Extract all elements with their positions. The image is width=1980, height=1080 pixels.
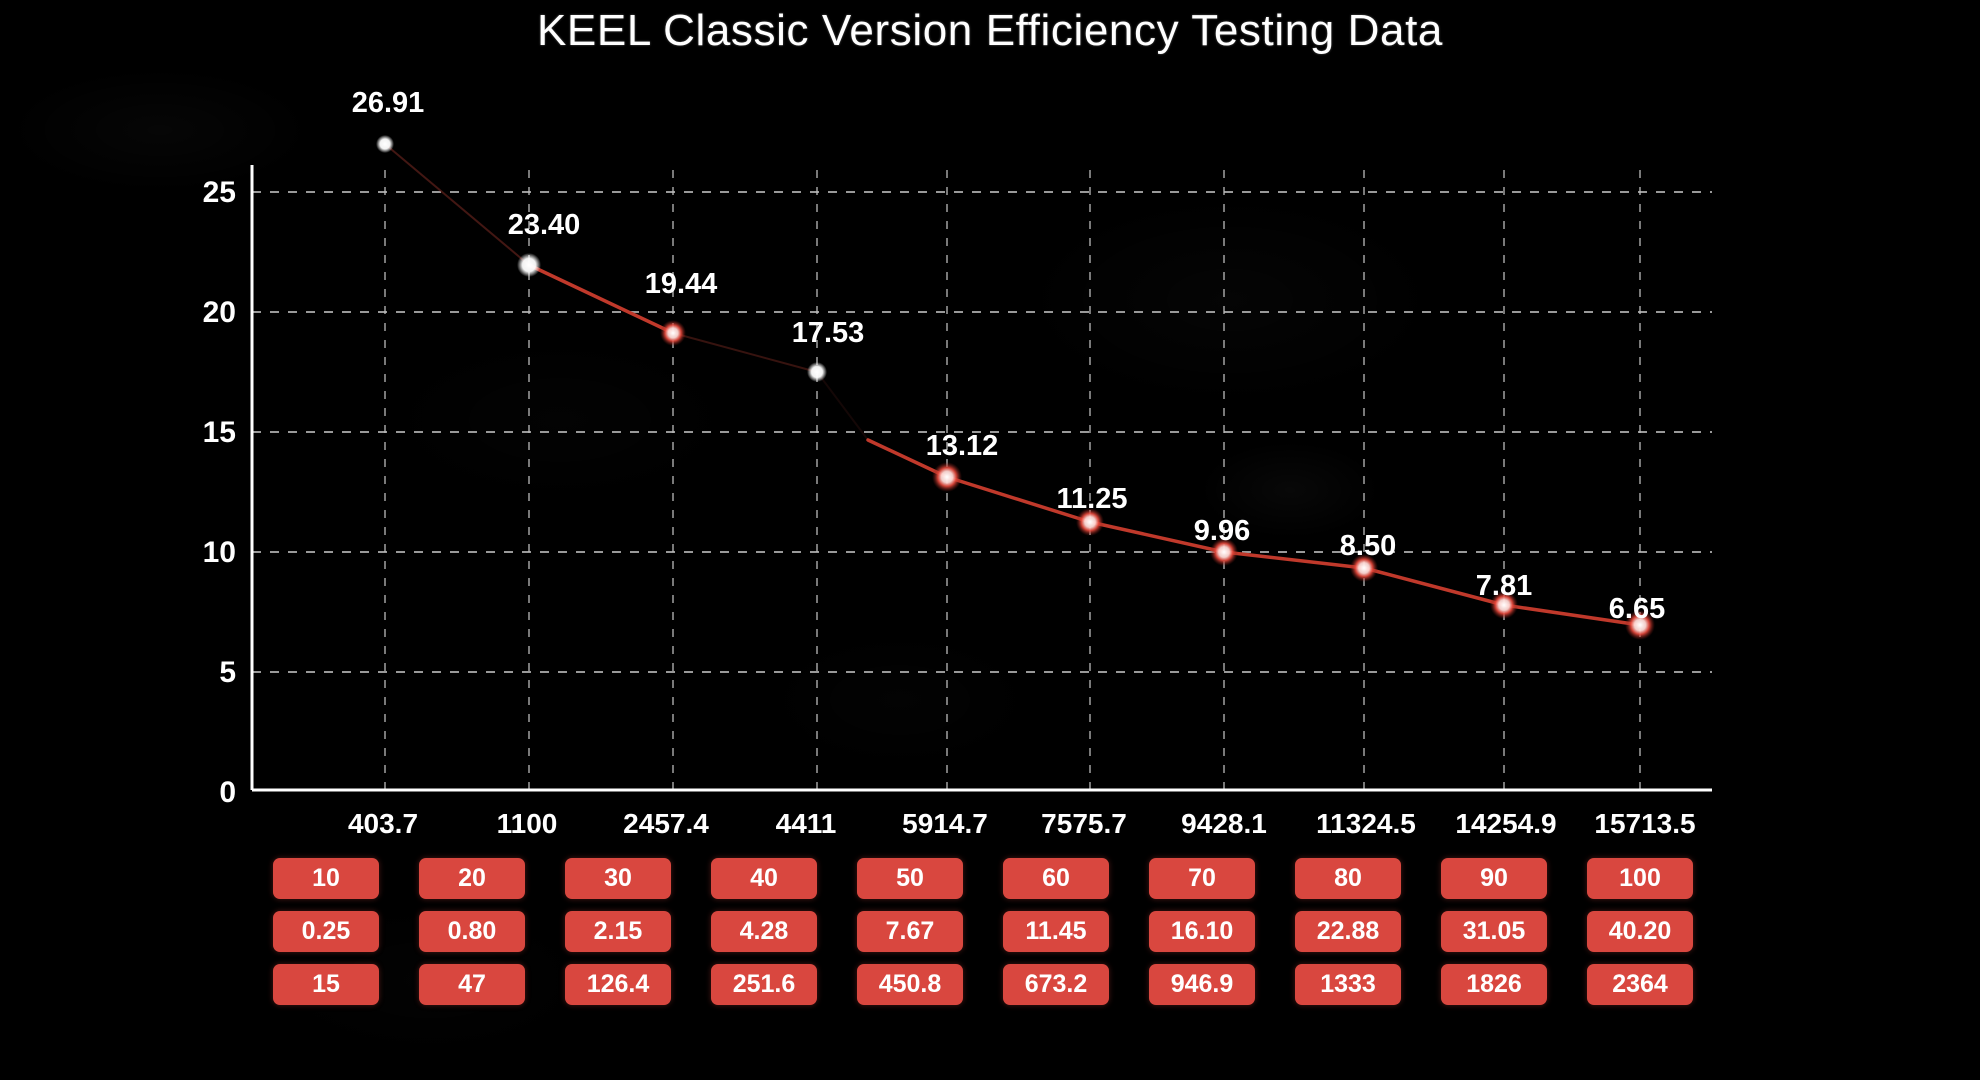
- y-tick-25: 25: [203, 176, 236, 209]
- badge-r1c1[interactable]: 10: [273, 858, 379, 899]
- badge-cell: 90: [1421, 858, 1567, 899]
- badge-cell: 2364: [1567, 964, 1713, 1005]
- badge-r3c9[interactable]: 1826: [1441, 964, 1547, 1005]
- badge-r2c1[interactable]: 0.25: [273, 911, 379, 952]
- data-label-4: 17.53: [792, 317, 865, 349]
- badge-cell: 0.80: [399, 911, 545, 952]
- badge-cell: 10: [253, 858, 399, 899]
- badge-r1c10[interactable]: 100: [1587, 858, 1693, 899]
- badge-r3c1[interactable]: 15: [273, 964, 379, 1005]
- badge-r3c7[interactable]: 946.9: [1149, 964, 1255, 1005]
- badge-r3c3[interactable]: 126.4: [565, 964, 671, 1005]
- badge-r3c8[interactable]: 1333: [1295, 964, 1401, 1005]
- y-tick-0: 0: [219, 776, 236, 809]
- badge-cell: 16.10: [1129, 911, 1275, 952]
- y-tick-15: 15: [203, 416, 236, 449]
- data-badge-table: 10 20 30 40 50 60 70 80 90 100 0.25 0.80…: [253, 858, 1713, 1017]
- data-label-3: 19.44: [645, 268, 718, 300]
- badge-cell: 20: [399, 858, 545, 899]
- badge-r2c2[interactable]: 0.80: [419, 911, 525, 952]
- badge-cell: 100: [1567, 858, 1713, 899]
- data-label-1: 26.91: [352, 87, 425, 119]
- x-tick-3: 2457.4: [623, 808, 709, 839]
- badge-r2c8[interactable]: 22.88: [1295, 911, 1401, 952]
- badge-cell: 4.28: [691, 911, 837, 952]
- badge-cell: 126.4: [545, 964, 691, 1005]
- badge-r3c4[interactable]: 251.6: [711, 964, 817, 1005]
- chart-axes: [252, 165, 1712, 790]
- data-label-8: 8.50: [1340, 530, 1396, 562]
- badge-r2c5[interactable]: 7.67: [857, 911, 963, 952]
- data-label-10: 6.65: [1609, 593, 1665, 625]
- badge-r1c5[interactable]: 50: [857, 858, 963, 899]
- badge-cell: 15: [253, 964, 399, 1005]
- badge-r2c4[interactable]: 4.28: [711, 911, 817, 952]
- badge-r2c6[interactable]: 11.45: [1003, 911, 1109, 952]
- badge-cell: 31.05: [1421, 911, 1567, 952]
- x-tick-7: 9428.1: [1181, 808, 1267, 839]
- badge-r3c5[interactable]: 450.8: [857, 964, 963, 1005]
- data-point-3[interactable]: [660, 320, 686, 346]
- badge-r2c3[interactable]: 2.15: [565, 911, 671, 952]
- data-point-2[interactable]: [517, 253, 541, 277]
- badge-r1c3[interactable]: 30: [565, 858, 671, 899]
- badge-r1c7[interactable]: 70: [1149, 858, 1255, 899]
- badge-r3c10[interactable]: 2364: [1587, 964, 1693, 1005]
- badge-cell: 80: [1275, 858, 1421, 899]
- badge-r1c8[interactable]: 80: [1295, 858, 1401, 899]
- data-label-5: 13.12: [926, 430, 999, 462]
- badge-cell: 673.2: [983, 964, 1129, 1005]
- badge-cell: 450.8: [837, 964, 983, 1005]
- badge-cell: 47: [399, 964, 545, 1005]
- data-point-5[interactable]: [932, 462, 962, 492]
- x-tick-1: 403.7: [348, 808, 418, 839]
- badge-cell: 60: [983, 858, 1129, 899]
- data-label-7: 9.96: [1194, 515, 1250, 547]
- badge-r2c10[interactable]: 40.20: [1587, 911, 1693, 952]
- data-point-4[interactable]: [807, 362, 827, 382]
- badge-cell: 0.25: [253, 911, 399, 952]
- badge-cell: 50: [837, 858, 983, 899]
- badge-cell: 11.45: [983, 911, 1129, 952]
- badge-r3c6[interactable]: 673.2: [1003, 964, 1109, 1005]
- badge-cell: 1333: [1275, 964, 1421, 1005]
- badge-r2c7[interactable]: 16.10: [1149, 911, 1255, 952]
- badge-cell: 1826: [1421, 964, 1567, 1005]
- x-tick-6: 7575.7: [1041, 808, 1127, 839]
- badge-r1c6[interactable]: 60: [1003, 858, 1109, 899]
- data-point-labels: 26.91 23.40 19.44 17.53 13.12 11.25 9.96…: [352, 87, 1666, 625]
- x-axis-tick-labels: 403.7 1100 2457.4 4411 5914.7 7575.7 942…: [348, 808, 1696, 839]
- badge-cell: 7.67: [837, 911, 983, 952]
- y-tick-10: 10: [203, 536, 236, 569]
- x-tick-8: 11324.5: [1316, 808, 1416, 839]
- data-label-6: 11.25: [1057, 483, 1128, 515]
- badge-r1c4[interactable]: 40: [711, 858, 817, 899]
- badge-r3c2[interactable]: 47: [419, 964, 525, 1005]
- y-tick-20: 20: [203, 296, 236, 329]
- badge-cell: 251.6: [691, 964, 837, 1005]
- badge-cell: 2.15: [545, 911, 691, 952]
- badge-r2c9[interactable]: 31.05: [1441, 911, 1547, 952]
- x-tick-2: 1100: [497, 808, 558, 839]
- badge-cell: 946.9: [1129, 964, 1275, 1005]
- badge-cell: 70: [1129, 858, 1275, 899]
- badge-r1c2[interactable]: 20: [419, 858, 525, 899]
- x-tick-9: 14254.9: [1455, 808, 1556, 839]
- data-label-9: 7.81: [1476, 570, 1532, 602]
- data-label-2: 23.40: [508, 209, 581, 241]
- data-point-1[interactable]: [376, 135, 394, 153]
- badge-r1c9[interactable]: 90: [1441, 858, 1547, 899]
- y-axis-tick-labels: 25 20 15 10 5 0: [203, 176, 236, 809]
- vertical-gridlines: [385, 170, 1640, 790]
- y-tick-5: 5: [219, 656, 236, 689]
- badge-row-3: 15 47 126.4 251.6 450.8 673.2 946.9 1333…: [253, 964, 1713, 1005]
- x-tick-10: 15713.5: [1594, 808, 1695, 839]
- badge-cell: 40: [691, 858, 837, 899]
- badge-row-2: 0.25 0.80 2.15 4.28 7.67 11.45 16.10 22.…: [253, 911, 1713, 952]
- x-tick-5: 5914.7: [902, 808, 988, 839]
- badge-cell: 40.20: [1567, 911, 1713, 952]
- x-tick-4: 4411: [776, 808, 837, 839]
- badge-cell: 22.88: [1275, 911, 1421, 952]
- badge-row-1: 10 20 30 40 50 60 70 80 90 100: [253, 858, 1713, 899]
- badge-cell: 30: [545, 858, 691, 899]
